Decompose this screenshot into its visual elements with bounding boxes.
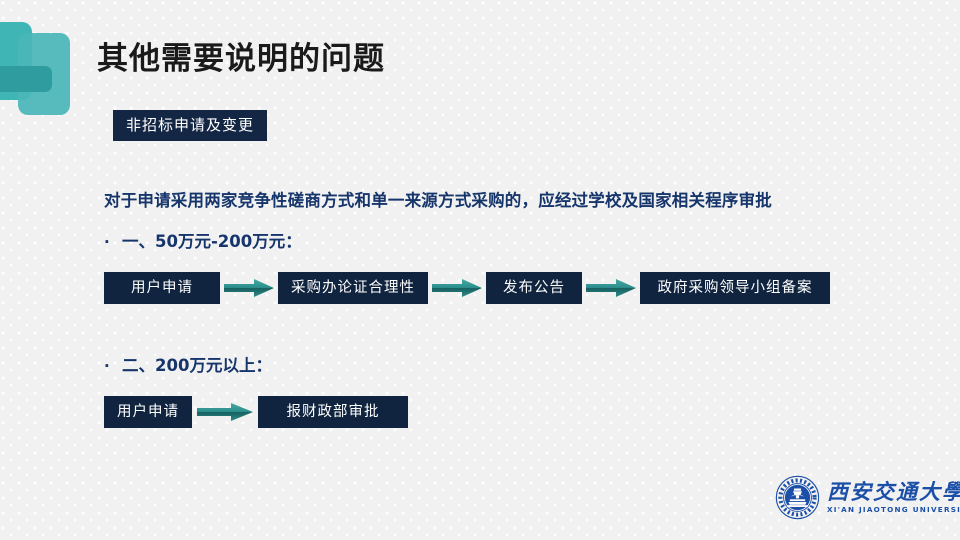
arrow-right-icon: [192, 396, 258, 428]
arrow-right-icon: [220, 272, 278, 304]
flow-node: 发布公告: [486, 272, 582, 304]
flow-node: 政府采购领导小组备案: [640, 272, 830, 304]
section-2-heading-text: 二、200万元以上：: [122, 356, 272, 375]
section-tag-badge: 非招标申请及变更: [113, 110, 267, 141]
flow-node: 报财政部审批: [258, 396, 408, 428]
deco-block-crossbar: [0, 66, 52, 92]
xjtu-seal-icon: [775, 475, 820, 520]
lead-paragraph: 对于申请采用两家竞争性磋商方式和单一来源方式采购的，应经过学校及国家相关程序审批: [104, 190, 772, 212]
university-logo-text: 西安交通大學 XI'AN JIAOTONG UNIVERSITY: [827, 480, 960, 515]
flow-diagram-section-1: 用户申请 采购办论证合理性 发布公告: [104, 272, 830, 304]
section-1-heading-text: 一、50万元-200万元：: [122, 232, 302, 251]
page-title: 其他需要说明的问题: [97, 40, 385, 78]
flow-node: 用户申请: [104, 396, 192, 428]
slide-canvas: 其他需要说明的问题 非招标申请及变更 对于申请采用两家竞争性磋商方式和单一来源方…: [0, 0, 960, 540]
arrow-right-icon: [582, 272, 640, 304]
university-logo: 西安交通大學 XI'AN JIAOTONG UNIVERSITY: [775, 470, 935, 524]
bullet-dot-icon: ·: [104, 231, 122, 253]
section-1-heading: ·一、50万元-200万元：: [104, 231, 302, 253]
flow-node: 采购办论证合理性: [278, 272, 428, 304]
section-2-heading: ·二、200万元以上：: [104, 355, 272, 377]
university-name-en: XI'AN JIAOTONG UNIVERSITY: [827, 505, 960, 515]
decorative-teal-blocks-icon: [0, 22, 70, 122]
arrow-right-icon: [428, 272, 486, 304]
flow-diagram-section-2: 用户申请 报财政部审批: [104, 396, 408, 428]
bullet-dot-icon: ·: [104, 355, 122, 377]
flow-node: 用户申请: [104, 272, 220, 304]
university-name-cn: 西安交通大學: [827, 480, 960, 504]
